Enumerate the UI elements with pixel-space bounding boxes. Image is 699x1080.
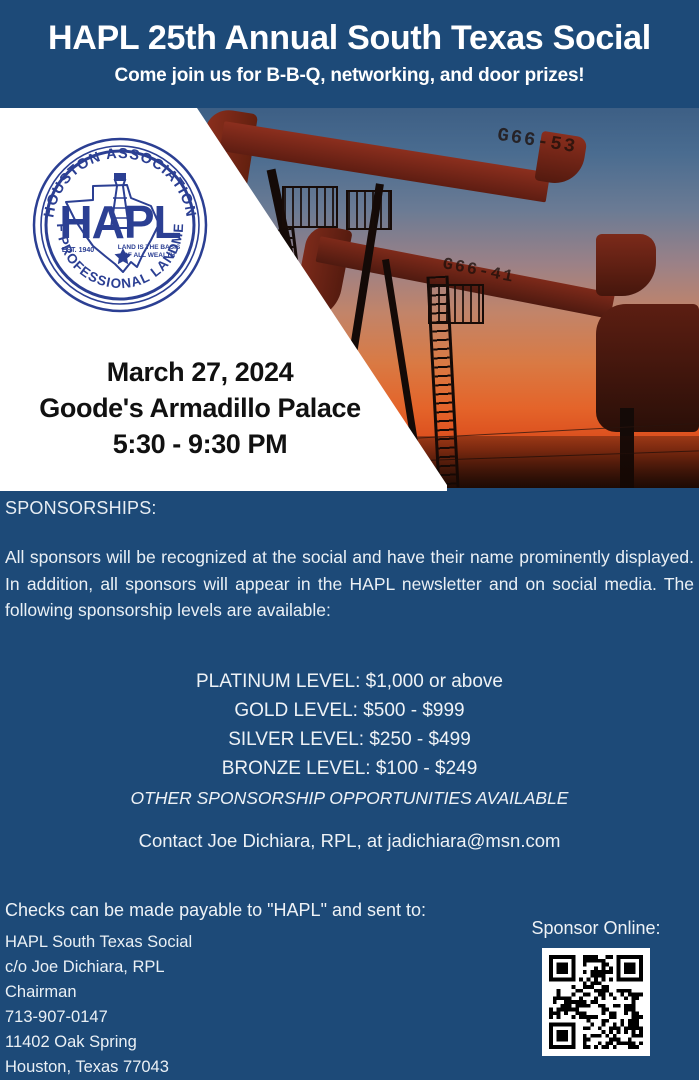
- wedge-bottom-fill: [0, 485, 447, 491]
- qr-code-icon[interactable]: [542, 948, 650, 1056]
- level-bronze: BRONZE LEVEL: $100 - $249: [0, 755, 699, 784]
- other-opportunities-note: OTHER SPONSORSHIP OPPORTUNITIES AVAILABL…: [0, 788, 699, 809]
- sponsorships-paragraph: All sponsors will be recognized at the s…: [5, 544, 694, 624]
- event-venue: Goode's Armadillo Palace: [0, 391, 400, 427]
- sponsor-online-label: Sponsor Online:: [498, 918, 694, 939]
- sponsor-online-block: Sponsor Online:: [498, 918, 694, 1056]
- mailing-address: HAPL South Texas Social c/o Joe Dichiara…: [5, 930, 192, 1079]
- svg-text:OF ALL WEALTH: OF ALL WEALTH: [123, 252, 176, 259]
- checks-payable-note: Checks can be made payable to "HAPL" and…: [5, 900, 426, 921]
- pumpjack-front-tag: G66-53: [496, 124, 579, 158]
- svg-text:EST. 1940: EST. 1940: [62, 247, 94, 254]
- level-silver: SILVER LEVEL: $250 - $499: [0, 726, 699, 755]
- header-banner: HAPL 25th Annual South Texas Social Come…: [0, 0, 699, 108]
- flyer-page: HAPL 25th Annual South Texas Social Come…: [0, 0, 699, 1080]
- page-subtitle: Come join us for B-B-Q, networking, and …: [115, 65, 585, 87]
- address-line-street: 11402 Oak Spring: [5, 1030, 192, 1055]
- event-details: March 27, 2024 Goode's Armadillo Palace …: [0, 355, 400, 463]
- pumpjack-gearbox: [596, 304, 699, 432]
- level-platinum: PLATINUM LEVEL: $1,000 or above: [0, 668, 699, 697]
- level-gold: GOLD LEVEL: $500 - $999: [0, 697, 699, 726]
- address-line-attention: c/o Joe Dichiara, RPL: [5, 955, 192, 980]
- address-line-organization: HAPL South Texas Social: [5, 930, 192, 955]
- pumpjack-rear-head: [596, 234, 656, 296]
- svg-text:HAPL: HAPL: [59, 196, 180, 248]
- sponsorship-levels-list: PLATINUM LEVEL: $1,000 or above GOLD LEV…: [0, 668, 699, 784]
- event-time: 5:30 - 9:30 PM: [0, 427, 400, 463]
- svg-text:LAND IS THE BASIS: LAND IS THE BASIS: [118, 244, 181, 251]
- address-line-city-state-zip: Houston, Texas 77043: [5, 1055, 192, 1080]
- derrick-platform-front-b: [346, 190, 392, 230]
- event-date: March 27, 2024: [0, 355, 400, 391]
- derrick-platform-rear: [428, 284, 484, 324]
- address-line-phone: 713-907-0147: [5, 1005, 192, 1030]
- address-line-title: Chairman: [5, 980, 192, 1005]
- sponsorships-heading: SPONSORSHIPS:: [5, 498, 157, 519]
- page-title: HAPL 25th Annual South Texas Social: [48, 21, 651, 57]
- derrick-platform-front-a: [282, 186, 338, 228]
- hapl-seal-logo: HOUSTON ASSOCIATION OF PROFESSIONAL LAND…: [31, 136, 209, 314]
- contact-line[interactable]: Contact Joe Dichiara, RPL, at jadichiara…: [0, 830, 699, 852]
